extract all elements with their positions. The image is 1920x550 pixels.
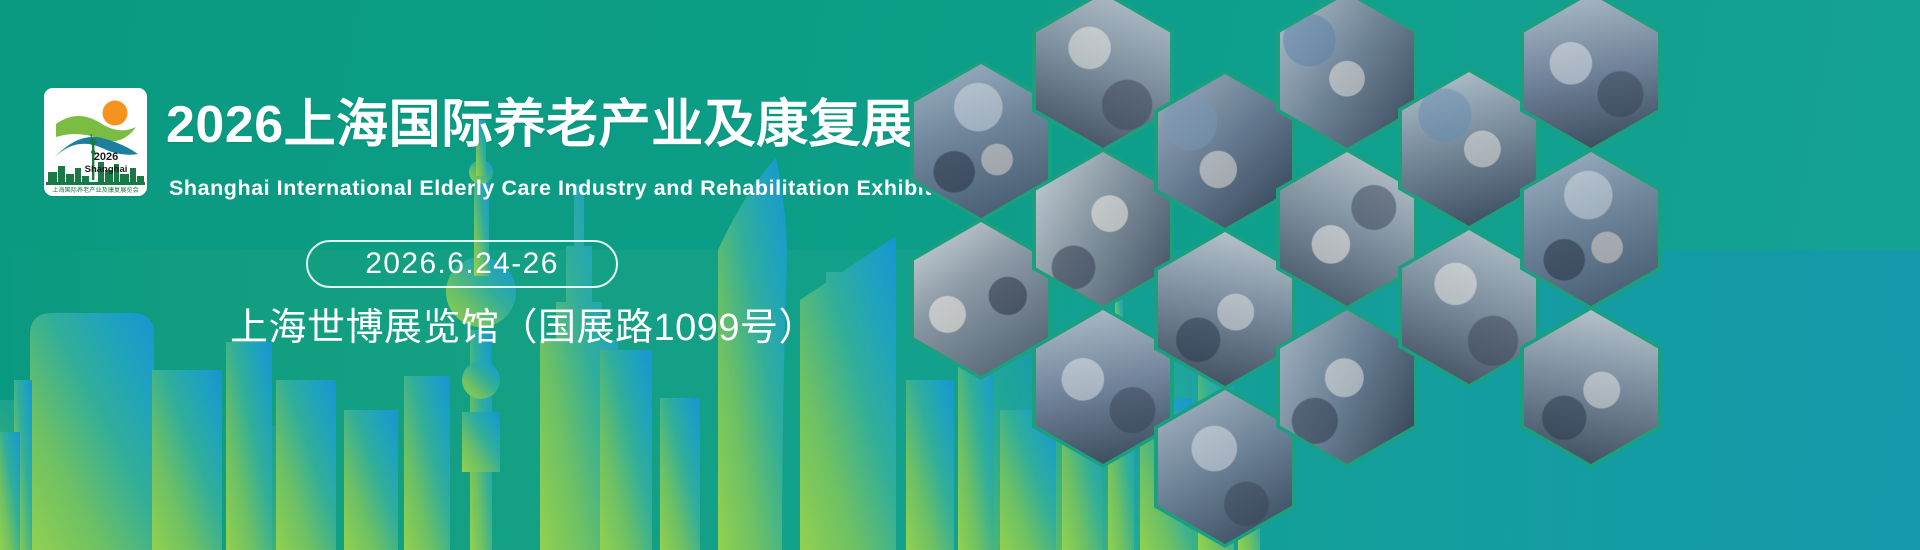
collage-hex-tile-10 bbox=[1276, 148, 1418, 310]
collage-hex-tile-5 bbox=[1032, 306, 1174, 468]
event-logo: 2026 Shanghai 上海国际养老产业及康复展览会 bbox=[44, 88, 147, 196]
collage-hex-tile-7 bbox=[1154, 228, 1296, 390]
collage-hex-tile-3 bbox=[1032, 0, 1174, 152]
logo-sun-icon bbox=[103, 101, 128, 126]
collage-hex-tile-15 bbox=[1520, 148, 1662, 310]
collage-hex-tile-13 bbox=[1398, 226, 1540, 388]
event-venue-text: 上海世博展览馆（国展路1099号） bbox=[230, 296, 817, 351]
collage-hex-tile-12 bbox=[1398, 68, 1540, 230]
logo-year-text: 2026 bbox=[94, 151, 118, 163]
collage-hex-tile-2 bbox=[910, 218, 1052, 380]
collage-hex-tile-1 bbox=[910, 60, 1052, 222]
collage-hex-tile-14 bbox=[1520, 0, 1662, 152]
logo-city-text: Shanghai bbox=[85, 164, 128, 175]
collage-hex-tile-6 bbox=[1154, 70, 1296, 232]
logo-caption-text: 上海国际养老产业及康复展览会 bbox=[52, 186, 139, 194]
event-date-badge: 2026.6.24-26 bbox=[306, 240, 618, 288]
collage-hex-tile-8 bbox=[1154, 386, 1296, 548]
collage-hex-tile-16 bbox=[1520, 306, 1662, 468]
collage-hex-tile-4 bbox=[1032, 148, 1174, 310]
event-date-text: 2026.6.24-26 bbox=[365, 247, 559, 281]
event-banner: 2026 Shanghai 上海国际养老产业及康复展览会 2026上海国际养老产… bbox=[0, 0, 1920, 550]
collage-hex-tile-9 bbox=[1276, 0, 1418, 152]
collage-hex-tile-11 bbox=[1276, 306, 1418, 468]
exhibition-photo-collage bbox=[880, 0, 1920, 550]
